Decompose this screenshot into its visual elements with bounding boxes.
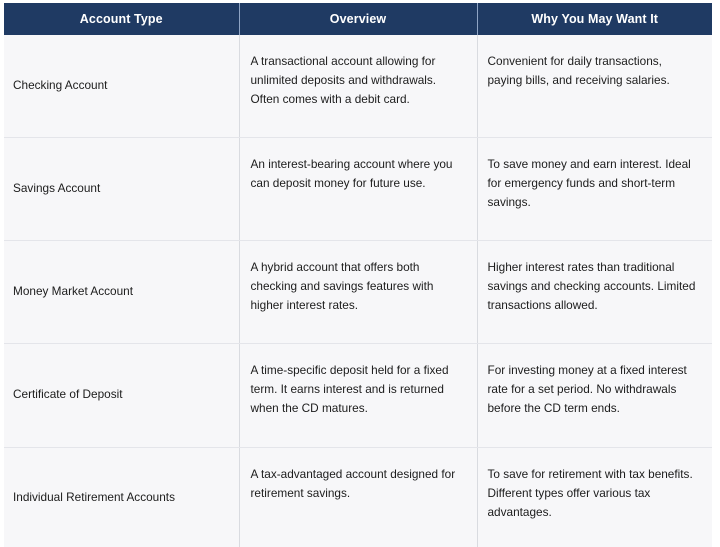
cell-account-type: Certificate of Deposit (4, 343, 239, 447)
cell-overview: A tax-advantaged account designed for re… (239, 447, 477, 547)
cell-overview: A time-specific deposit held for a fixed… (239, 343, 477, 447)
cell-overview: An interest-bearing account where you ca… (239, 137, 477, 240)
table-header: Account Type Overview Why You May Want I… (4, 3, 712, 35)
cell-why-you-may-want-it: Convenient for daily transactions, payin… (477, 35, 712, 137)
column-header-why-you-may-want-it: Why You May Want It (477, 3, 712, 35)
cell-account-type: Savings Account (4, 137, 239, 240)
account-type-label: Money Market Account (13, 282, 229, 301)
cell-why-you-may-want-it: To save money and earn interest. Ideal f… (477, 137, 712, 240)
account-types-table-container: Account Type Overview Why You May Want I… (0, 0, 720, 547)
cell-overview: A hybrid account that offers both checki… (239, 240, 477, 343)
account-type-label: Savings Account (13, 179, 229, 198)
overview-text: A transactional account allowing for unl… (251, 52, 463, 109)
column-header-account-type: Account Type (4, 3, 239, 35)
overview-text: An interest-bearing account where you ca… (251, 155, 463, 193)
account-type-label: Individual Retirement Accounts (13, 488, 229, 507)
overview-text: A time-specific deposit held for a fixed… (251, 361, 463, 418)
table-row: Certificate of Deposit A time-specific d… (4, 343, 712, 447)
table-row: Checking Account A transactional account… (4, 35, 712, 137)
table-row: Money Market Account A hybrid account th… (4, 240, 712, 343)
cell-why-you-may-want-it: For investing money at a fixed interest … (477, 343, 712, 447)
why-text: To save for retirement with tax benefits… (488, 465, 699, 522)
why-text: Convenient for daily transactions, payin… (488, 52, 699, 90)
why-text: For investing money at a fixed interest … (488, 361, 699, 418)
cell-why-you-may-want-it: To save for retirement with tax benefits… (477, 447, 712, 547)
table-row: Savings Account An interest-bearing acco… (4, 137, 712, 240)
table-row: Individual Retirement Accounts A tax-adv… (4, 447, 712, 547)
cell-why-you-may-want-it: Higher interest rates than traditional s… (477, 240, 712, 343)
table-body: Checking Account A transactional account… (4, 35, 712, 547)
overview-text: A hybrid account that offers both checki… (251, 258, 463, 315)
account-type-label: Checking Account (13, 76, 229, 95)
cell-account-type: Individual Retirement Accounts (4, 447, 239, 547)
why-text: To save money and earn interest. Ideal f… (488, 155, 699, 212)
account-type-label: Certificate of Deposit (13, 385, 229, 404)
table-header-row: Account Type Overview Why You May Want I… (4, 3, 712, 35)
cell-overview: A transactional account allowing for unl… (239, 35, 477, 137)
cell-account-type: Money Market Account (4, 240, 239, 343)
overview-text: A tax-advantaged account designed for re… (251, 465, 463, 503)
column-header-overview: Overview (239, 3, 477, 35)
cell-account-type: Checking Account (4, 35, 239, 137)
why-text: Higher interest rates than traditional s… (488, 258, 699, 315)
account-types-table: Account Type Overview Why You May Want I… (4, 3, 712, 547)
